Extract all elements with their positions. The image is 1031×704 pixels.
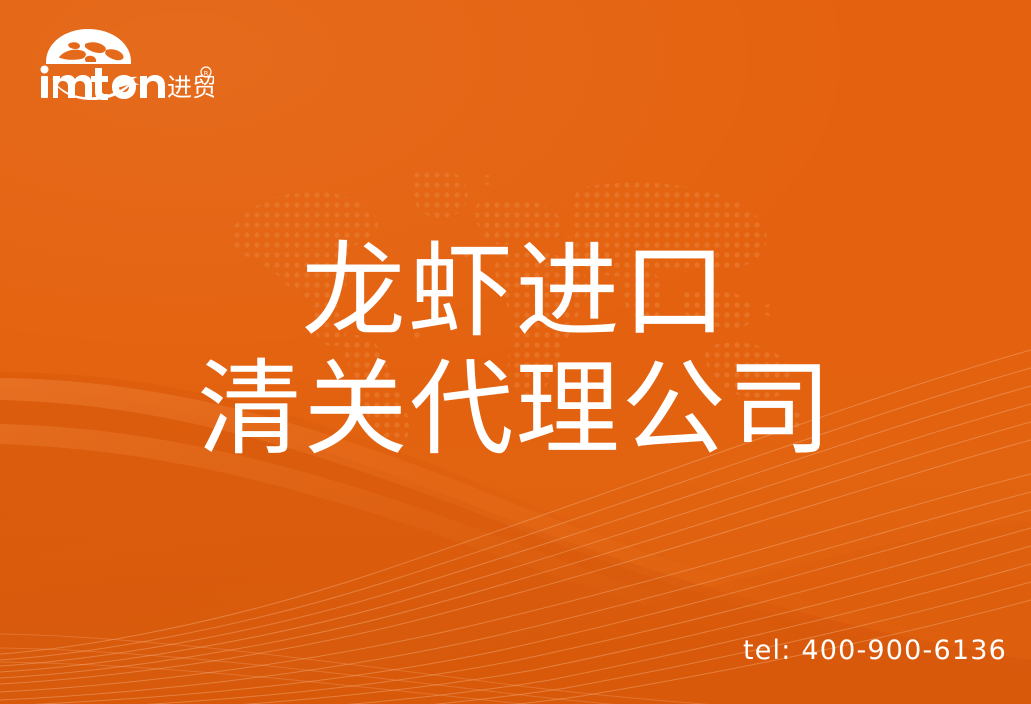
- brand-logo[interactable]: 进贸通 R: [36, 26, 214, 102]
- svg-text:R: R: [204, 70, 209, 78]
- globe-dome-icon: [36, 26, 136, 66]
- wordmark-imton: [41, 66, 166, 101]
- bottom-curve-fan: [0, 0, 1031, 704]
- promo-banner: 进贸通 R 龙虾进口 清关代理公司 tel: 400-900-6136: [0, 0, 1031, 704]
- telephone-text: tel: 400-900-6136: [743, 635, 1007, 666]
